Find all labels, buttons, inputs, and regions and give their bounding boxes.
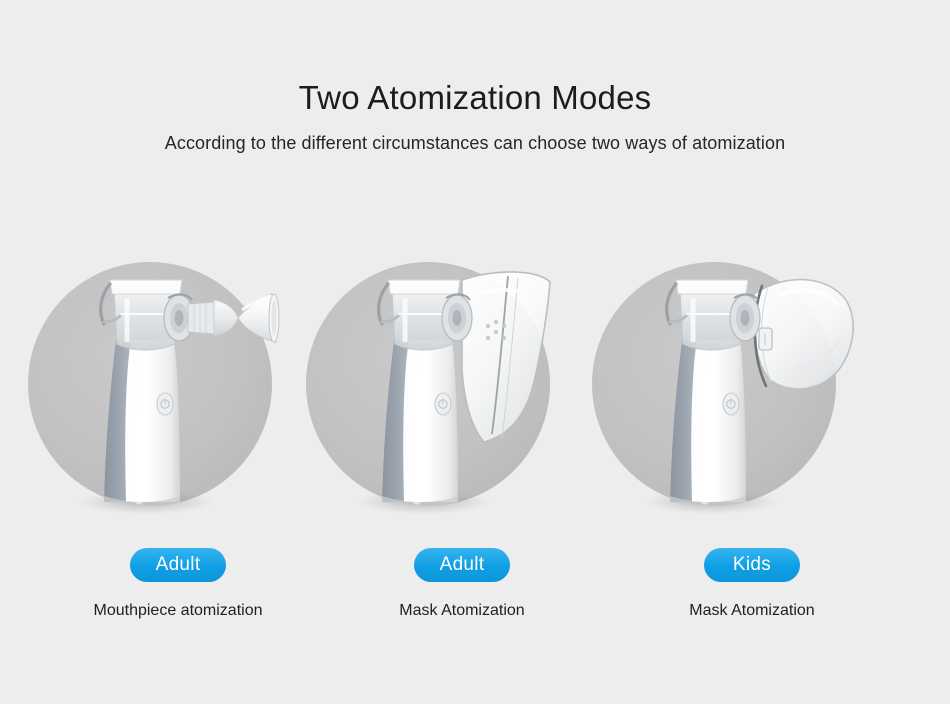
status-badge[interactable]: Adult	[130, 548, 226, 582]
page-title: Two Atomization Modes	[0, 78, 950, 118]
header: Two Atomization Modes According to the d…	[0, 78, 950, 156]
modes-row: Adult Mouthpiece atomization	[0, 252, 950, 652]
kids-mask-icon	[753, 280, 853, 389]
atomizer-head	[730, 294, 760, 341]
mode-panel-mouthpiece[interactable]: Adult Mouthpiece atomization	[28, 252, 328, 652]
status-badge[interactable]: Adult	[414, 548, 510, 582]
atomizer-head	[442, 294, 472, 341]
nebulizer-device	[104, 340, 180, 507]
mode-caption: Mask Atomization	[602, 600, 902, 622]
adult-mask-product-image	[312, 252, 612, 537]
badge-wrap: Adult	[28, 548, 328, 582]
mode-caption: Mask Atomization	[312, 600, 612, 622]
status-badge[interactable]: Kids	[704, 548, 800, 582]
kids-mask-product-image	[602, 252, 902, 537]
badge-wrap: Kids	[602, 548, 902, 582]
mouthpiece-product-image	[28, 252, 328, 537]
product-feature-page: Two Atomization Modes According to the d…	[0, 0, 950, 704]
mode-panel-adult-mask[interactable]: Adult Mask Atomization	[312, 252, 612, 652]
page-subtitle: According to the different circumstances…	[0, 118, 950, 156]
nebulizer-device	[382, 340, 458, 507]
badge-wrap: Adult	[312, 548, 612, 582]
mode-caption: Mouthpiece atomization	[28, 600, 328, 622]
mode-panel-kids-mask[interactable]: Kids Mask Atomization	[602, 252, 902, 652]
nebulizer-device	[670, 340, 746, 507]
